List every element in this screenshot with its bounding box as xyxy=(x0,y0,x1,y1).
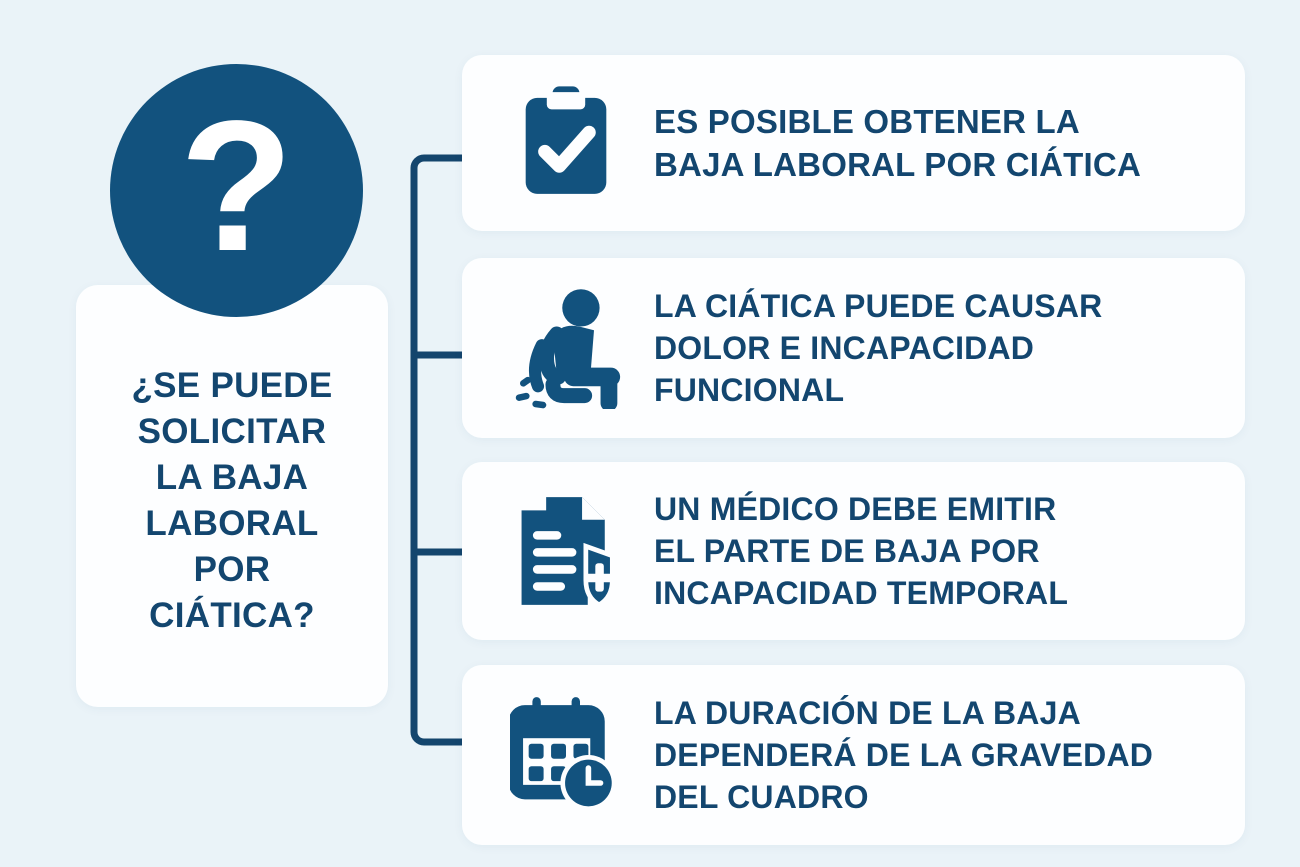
page-title: ¿SE PUEDE SOLICITAR LA BAJA LABORAL POR … xyxy=(76,363,388,639)
fact-card-1-text: ES POSIBLE OBTENER LA BAJA LABORAL POR C… xyxy=(654,100,1141,186)
question-mark-icon: ? xyxy=(110,64,363,317)
clipboard-check-icon xyxy=(506,83,626,203)
fact-card-4: LA DURACIÓN DE LA BAJA DEPENDERÁ DE LA G… xyxy=(462,665,1245,845)
fact-card-2-text: LA CIÁTICA PUEDE CAUSAR DOLOR E INCAPACI… xyxy=(654,285,1102,411)
medical-document-shield-icon xyxy=(506,491,626,611)
question-mark-glyph: ? xyxy=(180,94,294,280)
fact-card-3-text: UN MÉDICO DEBE EMITIR EL PARTE DE BAJA P… xyxy=(654,488,1068,614)
bracket-connector xyxy=(400,140,480,760)
seated-person-back-pain-icon xyxy=(506,288,626,408)
question-card: ¿SE PUEDE SOLICITAR LA BAJA LABORAL POR … xyxy=(76,285,388,707)
fact-card-3: UN MÉDICO DEBE EMITIR EL PARTE DE BAJA P… xyxy=(462,462,1245,640)
calendar-clock-icon xyxy=(506,695,626,815)
infographic-canvas: ¿SE PUEDE SOLICITAR LA BAJA LABORAL POR … xyxy=(0,0,1300,867)
fact-card-2: LA CIÁTICA PUEDE CAUSAR DOLOR E INCAPACI… xyxy=(462,258,1245,438)
fact-card-4-text: LA DURACIÓN DE LA BAJA DEPENDERÁ DE LA G… xyxy=(654,692,1153,818)
fact-card-1: ES POSIBLE OBTENER LA BAJA LABORAL POR C… xyxy=(462,55,1245,231)
